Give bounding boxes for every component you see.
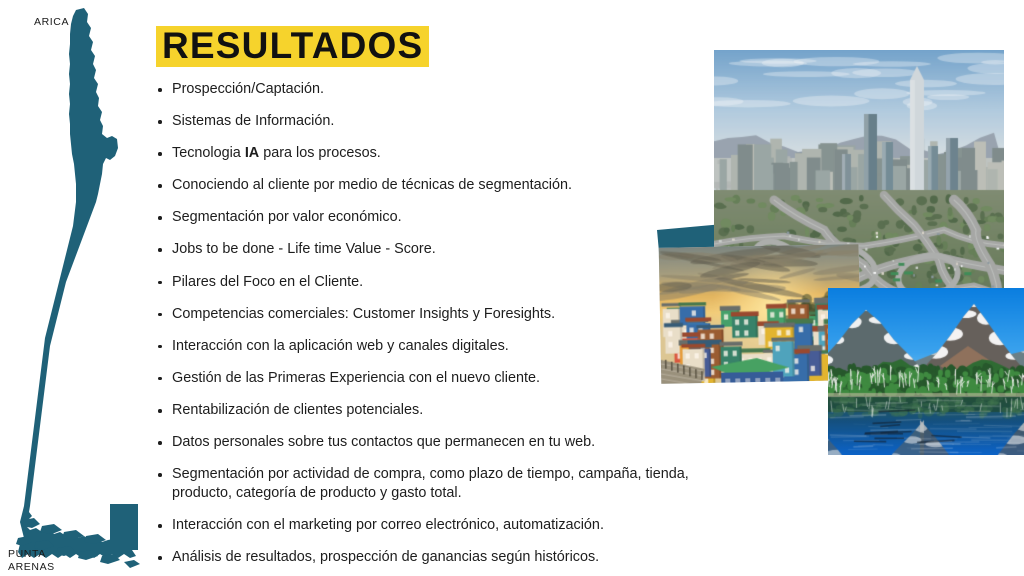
bullet-text: Análisis de resultados, prospección de g…	[172, 549, 599, 565]
slide-root: ARICA PUNTA ARENAS RESULTADOS Prospecció…	[0, 0, 1024, 576]
bullet-text: Rentabilización de clientes potenciales.	[172, 402, 423, 418]
bullet-text: Interacción con la aplicación web y cana…	[172, 338, 509, 354]
bullet-text: Datos personales sobre tus contactos que…	[172, 434, 595, 450]
chile-map-path	[18, 8, 136, 558]
bullet-text: Conociendo al cliente por medio de técni…	[172, 177, 572, 193]
chile-map-icon	[14, 6, 146, 572]
map-label-punta-arenas: PUNTA ARENAS	[8, 548, 55, 574]
map-label-arica: ARICA	[34, 16, 69, 29]
bullet-text: Interacción con el marketing por correo …	[172, 517, 604, 533]
bullet-text-tail: para los procesos.	[259, 145, 381, 161]
bullet-item: Interacción con el marketing por correo …	[156, 516, 746, 535]
bullet-text-emphasis: IA	[245, 145, 259, 161]
bullet-text: Gestión de las Primeras Experiencia con …	[172, 370, 540, 386]
bullet-text: Segmentación por valor económico.	[172, 209, 402, 225]
bullet-text: Jobs to be done - Life time Value - Scor…	[172, 241, 436, 257]
bullet-text: Segmentación por actividad de compra, co…	[172, 466, 689, 501]
bullet-text: Pilares del Foco en el Cliente.	[172, 274, 363, 290]
chile-map-panel: ARICA PUNTA ARENAS	[0, 0, 150, 576]
page-title: RESULTADOS	[156, 26, 429, 67]
bullet-text: Sistemas de Información.	[172, 113, 334, 129]
photo-patagonia	[828, 288, 1024, 455]
bullet-text: Competencias comerciales: Customer Insig…	[172, 306, 555, 322]
bullet-text: Prospección/Captación.	[172, 81, 324, 97]
photo-collage	[630, 30, 1024, 470]
bullet-text: Tecnologia	[172, 145, 245, 161]
bullet-item: Segmentación por actividad de compra, co…	[156, 465, 746, 503]
bullet-item: Análisis de resultados, prospección de g…	[156, 548, 746, 567]
page-title-wrapper: RESULTADOS	[156, 26, 429, 67]
